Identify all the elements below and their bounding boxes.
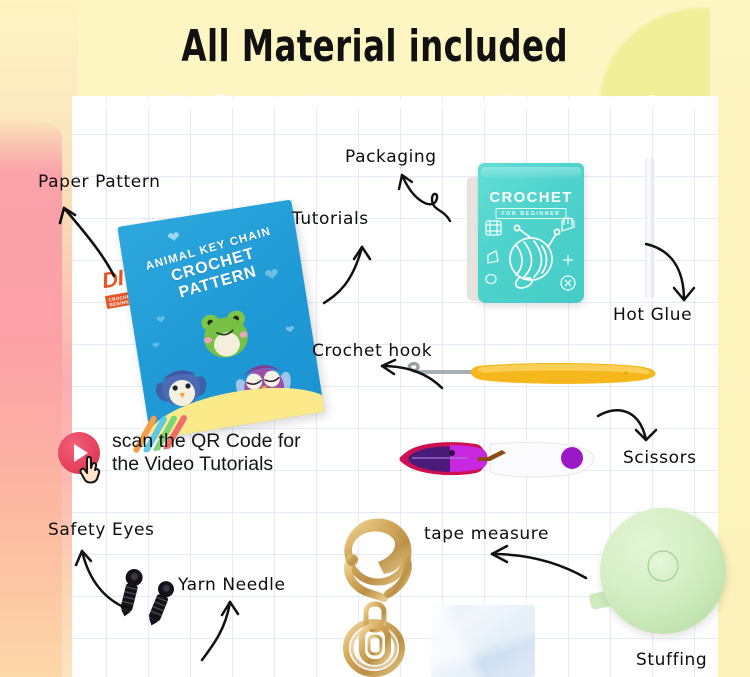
pouch-zip-seal <box>481 167 581 178</box>
label-scissors: Scissors <box>623 448 697 468</box>
label-safety-eyes: Safety Eyes <box>48 520 155 540</box>
play-button[interactable] <box>58 432 100 474</box>
label-tape-measure: tape measure <box>424 524 549 544</box>
hand-cursor-icon <box>78 454 104 484</box>
frog-amigurumi <box>194 305 257 365</box>
left-edge-pink-gradient <box>0 118 62 677</box>
heart-icon: ❤ <box>285 323 296 337</box>
tape-measure-button <box>648 550 679 581</box>
tape-measure-body <box>600 508 726 634</box>
video-tutorial-text: scan the QR Code for the Video Tutorials <box>112 430 301 477</box>
video-tutorial-cta[interactable]: scan the QR Code for the Video Tutorials <box>58 430 301 477</box>
pattern-book-title: ANIMAL KEY CHAIN CROCHET PATTERN <box>135 223 293 314</box>
page-title: All Material included <box>182 21 569 72</box>
keychain <box>322 516 434 677</box>
cta-line-2: the Video Tutorials <box>112 453 301 476</box>
label-tutorials: Tutorials <box>292 209 369 229</box>
label-paper-pattern: Paper Pattern <box>38 172 161 192</box>
product-infographic: All Material included Paper Pattern Pack… <box>0 0 750 677</box>
scissors <box>390 434 608 484</box>
packaging-pouch: CROCHET FOR BEGINNER <box>478 163 584 303</box>
heart-icon: ❤ <box>152 340 161 352</box>
hot-glue-stick <box>645 158 654 298</box>
heart-icon: ❤ <box>155 313 166 327</box>
label-crochet-hook: Crochet hook <box>312 341 432 361</box>
header-banner: All Material included <box>0 0 750 92</box>
crochet-hook <box>398 358 680 388</box>
label-yarn-needle: Yarn Needle <box>178 575 286 595</box>
pouch-brand-text: CROCHET <box>478 189 584 206</box>
label-hot-glue: Hot Glue <box>613 305 692 325</box>
pattern-book-cover: ❤ ❤ ❤ ❤ ❤ ANIMAL KEY CHAIN CROCHET PATTE… <box>117 200 324 440</box>
safety-eyes <box>108 568 188 632</box>
pouch-body: CROCHET FOR BEGINNER <box>478 163 584 303</box>
tape-measure <box>600 508 726 634</box>
heart-icon: ❤ <box>166 227 181 247</box>
pattern-book: ❤ ❤ ❤ ❤ ❤ ANIMAL KEY CHAIN CROCHET PATTE… <box>117 200 324 440</box>
label-packaging: Packaging <box>345 147 437 167</box>
stuffing-bag <box>431 605 535 677</box>
label-stuffing: Stuffing <box>636 650 707 670</box>
cta-line-1: scan the QR Code for <box>112 430 301 453</box>
yarn-ball-icon <box>478 217 584 301</box>
